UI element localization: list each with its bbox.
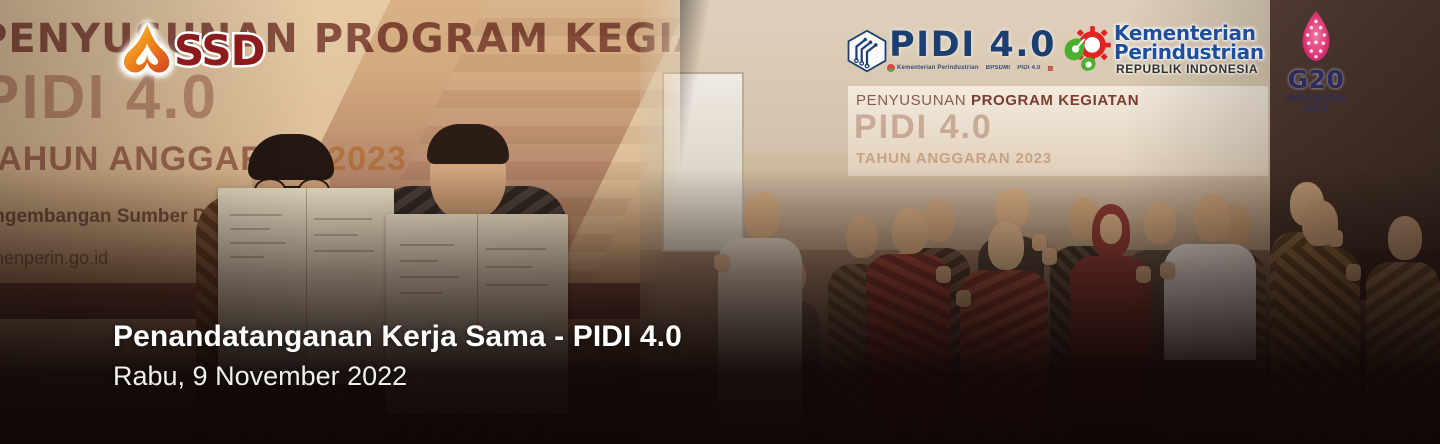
partner-mark: ▨ — [1048, 65, 1054, 72]
kemenperin-line-3: REPUBLIK INDONESIA — [1116, 62, 1258, 76]
attendee — [718, 176, 802, 444]
pidi-logo: PIDI 4.0 Kementerian Perindustrian BPSDM… — [845, 26, 1040, 84]
kemenperin-gear-leaf-icon — [1060, 24, 1112, 76]
hair — [248, 134, 334, 180]
pidi-hexagon-circuit-icon — [845, 28, 889, 74]
group-backdrop-line-1-bold: PROGRAM KEGIATAN — [971, 92, 1139, 109]
partner-pidi: PIDI 4.0 — [1017, 65, 1040, 71]
group-of-attendees — [640, 114, 1440, 444]
g20-batik-ornament-icon — [1289, 10, 1343, 62]
ssd-swoosh-icon — [118, 20, 174, 78]
attendee — [866, 194, 950, 444]
pidi-logo-text: PIDI 4.0 — [889, 25, 1056, 65]
g20-logo: G20 INDONESIA 2022 — [1268, 10, 1364, 106]
event-banner: PENYUSUNAN PROGRAM KEGIATAN PIDI 4.0 TAH… — [0, 0, 1440, 444]
pidi-partner-logos: Kementerian Perindustrian BPSDMI PIDI 4.… — [887, 64, 1053, 72]
backdrop-website: kemenperin.go.id — [0, 248, 108, 269]
attendee-hijab — [1070, 194, 1150, 444]
g20-year: 2022 — [1268, 103, 1364, 113]
attendee — [960, 208, 1048, 444]
hair — [427, 124, 509, 164]
event-date: Rabu, 9 November 2022 — [113, 362, 682, 392]
page-title: Penandatanganan Kerja Sama - PIDI 4.0 — [113, 320, 682, 353]
kemenperin-logo: Kementerian Perindustrian REPUBLIK INDON… — [1060, 20, 1260, 82]
kemenperin-line-2: Perindustrian — [1114, 40, 1264, 64]
partner-bpsdmi: BPSDMI — [986, 65, 1011, 71]
attendee — [1274, 186, 1360, 444]
group-backdrop-line-1-pre: PENYUSUNAN — [856, 92, 971, 109]
partner-kemenperin: Kementerian Perindustrian — [887, 64, 979, 72]
ssd-logo-text: SSD — [174, 26, 264, 75]
attendee — [1366, 204, 1440, 444]
g20-country: INDONESIA — [1268, 93, 1364, 103]
g20-title: G20 — [1268, 65, 1364, 94]
attendee — [1164, 182, 1256, 444]
ssd-logo: SSD — [118, 18, 278, 80]
group-backdrop-line-1: PENYUSUNAN PROGRAM KEGIATAN — [856, 92, 1139, 109]
banner-caption: Penandatanganan Kerja Sama - PIDI 4.0 Ra… — [113, 320, 682, 392]
